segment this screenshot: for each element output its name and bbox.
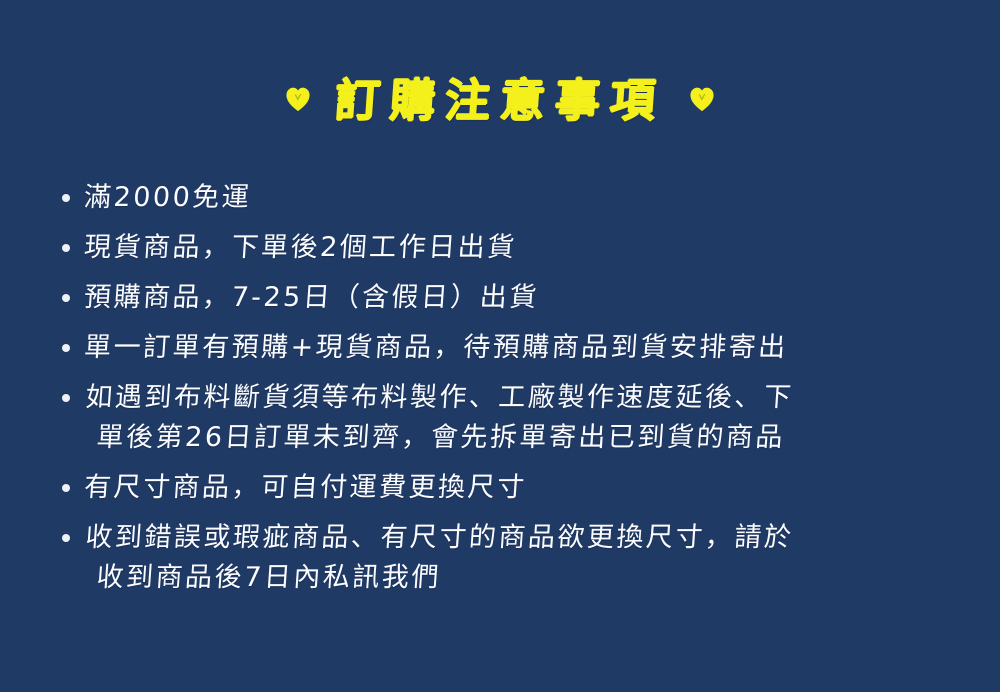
bullet-icon: [62, 344, 70, 352]
list-item-line: 收到商品後7日內私訊我們: [95, 558, 962, 598]
list-item-text: 現貨商品，下單後2個工作日出貨: [83, 228, 964, 268]
list-item: 滿2000免運: [62, 178, 962, 218]
page-title-text: 訂購注意事項: [333, 75, 667, 127]
list-item: 現貨商品，下單後2個工作日出貨: [62, 228, 962, 268]
bullet-icon: [62, 534, 70, 542]
list-item-line: 如遇到布料斷貨須等布料製作、工廠製作速度延後、下: [84, 378, 965, 418]
list-item-text: 滿2000免運: [83, 178, 964, 218]
list-item-text: 單一訂單有預購+現貨商品，待預購商品到貨安排寄出: [83, 328, 964, 368]
list-item-line: 單一訂單有預購+現貨商品，待預購商品到貨安排寄出: [83, 328, 964, 368]
bullet-icon: [62, 294, 70, 302]
list-item-line: 收到錯誤或瑕疵商品、有尺寸的商品欲更換尺寸，請於: [84, 518, 965, 558]
list-item: 有尺寸商品，可自付運費更換尺寸: [62, 468, 962, 508]
page-title: 訂購注意事項: [0, 70, 1000, 132]
list-item-line: 滿2000免運: [83, 178, 964, 218]
list-item-text: 預購商品，7-25日（含假日）出貨: [83, 278, 964, 318]
list-item: 如遇到布料斷貨須等布料製作、工廠製作速度延後、下 單後第26日訂單未到齊，會先拆…: [62, 378, 962, 458]
notice-card: 訂購注意事項 滿2000免運 現貨商品，下單後2個工作日出貨 預購商品，7-25…: [0, 0, 1000, 692]
bullet-icon: [62, 244, 70, 252]
bullet-icon: [62, 194, 70, 202]
list-item-line: 單後第26日訂單未到齊，會先拆單寄出已到貨的商品: [95, 418, 962, 458]
list-item-text: 如遇到布料斷貨須等布料製作、工廠製作速度延後、下 單後第26日訂單未到齊，會先拆…: [81, 378, 965, 458]
list-item: 預購商品，7-25日（含假日）出貨: [62, 278, 962, 318]
list-item: 收到錯誤或瑕疵商品、有尺寸的商品欲更換尺寸，請於 收到商品後7日內私訊我們: [62, 518, 962, 598]
notice-list: 滿2000免運 現貨商品，下單後2個工作日出貨 預購商品，7-25日（含假日）出…: [62, 178, 962, 608]
bullet-icon: [62, 484, 70, 492]
heart-icon-right: [689, 86, 715, 112]
list-item-line: 預購商品，7-25日（含假日）出貨: [83, 278, 964, 318]
list-item: 單一訂單有預購+現貨商品，待預購商品到貨安排寄出: [62, 328, 962, 368]
list-item-line: 現貨商品，下單後2個工作日出貨: [83, 228, 964, 268]
list-item-line: 有尺寸商品，可自付運費更換尺寸: [83, 468, 964, 508]
heart-icon-left: [285, 86, 311, 112]
list-item-text: 有尺寸商品，可自付運費更換尺寸: [83, 468, 964, 508]
list-item-text: 收到錯誤或瑕疵商品、有尺寸的商品欲更換尺寸，請於 收到商品後7日內私訊我們: [81, 518, 965, 598]
bullet-icon: [62, 394, 70, 402]
